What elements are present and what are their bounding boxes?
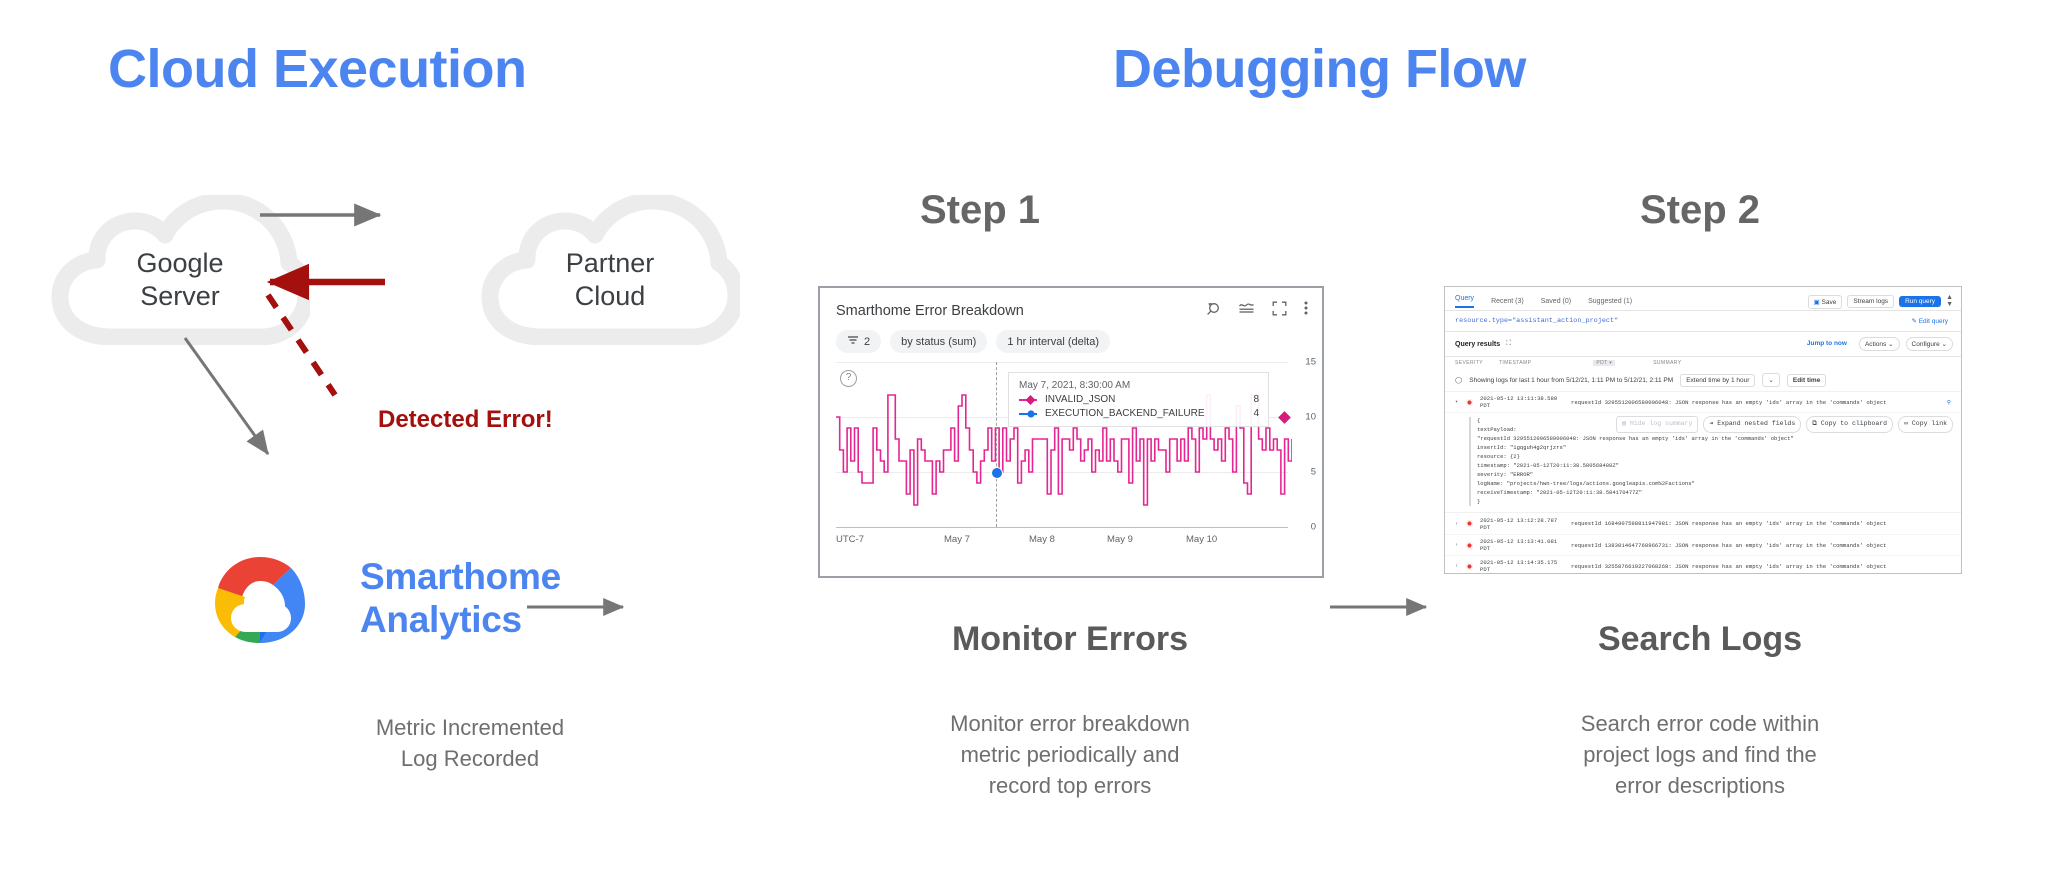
tooltip-row-invalid-json: INVALID_JSON 8 [1019,394,1259,405]
collapse-caret-icon[interactable]: ▾ [1455,399,1459,405]
log-summary: requestId 3255876619227068268: JSON resp… [1571,563,1887,570]
caption-line: Monitor error breakdown [870,708,1270,739]
log-rows-list[interactable]: ›2021-05-12 13:12:28.787 PDTrequestId 16… [1445,513,1961,574]
flow-title-monitor-errors: Monitor Errors [850,620,1290,659]
chart-plot-area[interactable]: 15 10 5 0 ? May 7, 2021, 8:30:00 AM INVA… [836,362,1288,527]
chip-filter-label: 2 [864,336,870,348]
log-timestamp: 2021-05-12 13:14:35.175 PDT [1480,559,1564,573]
caption-line: record top errors [870,770,1270,801]
column-timezone[interactable]: PDT ▾ [1593,360,1615,366]
hide-log-summary-label: Hide log summary [1630,420,1692,427]
dashed-error-connector [268,295,335,395]
google-cloud-logo-icon [205,552,315,644]
more-options-icon[interactable] [1304,300,1308,321]
chevron-down-icon: ▾ [1609,360,1612,366]
chart-header: Smarthome Error Breakdown [820,288,1322,323]
edit-query-button[interactable]: ✎ Edit query [1906,315,1953,327]
clock-icon: ◯ [1455,376,1462,384]
legend-marker-circle-icon [1019,409,1039,419]
payload-line: "requestId 3295512006589006048: JSON res… [1477,435,1951,444]
query-results-actions[interactable]: Jump to now Actions ⌄ Configure ⌄ [1801,337,1953,351]
log-row-expanded[interactable]: ▾ 2021-05-12 13:11:38.580 PDT requestId … [1445,392,1961,413]
chart-tooltip: May 7, 2021, 8:30:00 AM INVALID_JSON 8 E… [1008,372,1269,427]
pin-icon[interactable]: ⚲ [1947,399,1951,406]
payload-line: } [1477,498,1951,507]
flow-arrow-2 [1328,595,1438,624]
copy-link-label: Copy link [1912,420,1947,427]
log-row[interactable]: ›2021-05-12 13:12:28.787 PDTrequestId 16… [1445,513,1961,534]
payload-line: severity: "ERROR" [1477,471,1951,480]
save-label: Save [1822,299,1837,306]
expand-nested-fields-label: Expand nested fields [1717,420,1795,427]
log-timestamp: 2021-05-12 13:12:28.787 PDT [1480,517,1564,531]
tooltip-value-invalid-json: 8 [1237,394,1259,405]
chevron-down-icon: ⌄ [1942,341,1947,348]
step-1-title: Step 1 [880,188,1080,233]
tab-recent[interactable]: Recent (3) [1491,298,1524,305]
hide-log-summary-button[interactable]: ▤ Hide log summary [1616,416,1698,433]
ytick-0: 0 [1311,522,1316,533]
xtick-may-9: May 9 [1107,534,1133,545]
filter-icon [847,335,859,348]
expand-icon[interactable]: ⛶ [1506,340,1511,348]
tab-saved[interactable]: Saved (0) [1541,298,1571,305]
payload-line: receiveTimestamp: "2021-05-12T20:11:38.5… [1477,489,1951,498]
ytick-15: 15 [1305,357,1316,368]
payload-line: insertId: "1gqguh4g2qrjzrs" [1477,444,1951,453]
tooltip-timestamp: May 7, 2021, 8:30:00 AM [1019,380,1259,391]
xtick-may-8: May 8 [1029,534,1055,545]
caption-line: error descriptions [1500,770,1900,801]
chart-crosshair [996,362,997,527]
flow-arrow-1 [525,595,635,624]
column-severity: SEVERITY [1455,360,1483,366]
tooltip-series-execution-backend-failure: EXECUTION_BACKEND_FAILURE [1045,408,1231,419]
logs-toolbar[interactable]: ▣ Save Stream logs Run query ▲▼ [1808,295,1953,309]
page-title-debugging-flow: Debugging Flow [1113,38,1526,100]
arrow-google-to-analytics [185,338,268,454]
chart-point-execution-backend-failure [991,467,1003,479]
severity-error-icon [1466,399,1473,406]
legend-marker-diamond-icon [1019,395,1039,405]
reset-zoom-icon[interactable] [1205,300,1221,321]
step-2-title: Step 2 [1600,188,1800,233]
chart-type-icon[interactable] [1238,300,1255,321]
save-button[interactable]: ▣ Save [1808,295,1843,309]
run-query-button[interactable]: Run query [1899,296,1941,307]
page-title-cloud-execution: Cloud Execution [108,38,527,100]
column-summary: SUMMARY [1653,360,1681,366]
log-summary: requestId 1684907598811947981: JSON resp… [1571,520,1887,527]
chart-chips[interactable]: 2 by status (sum) 1 hr interval (delta) [820,323,1322,353]
google-cloud-logo [205,552,315,649]
caption-line: metric periodically and [870,739,1270,770]
caption-line: Metric Incremented [270,712,670,743]
query-text[interactable]: resource.type="assistant_action_project" [1455,317,1618,325]
ytick-10: 10 [1305,412,1316,423]
extend-time-button[interactable]: Extend time by 1 hour [1680,374,1755,387]
logs-explorer-card[interactable]: Query Recent (3) Saved (0) Suggested (1)… [1444,286,1962,574]
log-timestamp: 2021-05-12 13:13:41.081 PDT [1480,538,1564,552]
tooltip-row-execution-backend-failure: EXECUTION_BACKEND_FAILURE 4 [1019,408,1259,419]
brand-line-1: Smarthome [360,556,561,599]
chart-title: Smarthome Error Breakdown [836,303,1024,319]
query-editor-row[interactable]: resource.type="assistant_action_project"… [1445,311,1961,332]
save-icon: ▣ [1814,299,1820,306]
jump-to-now-button[interactable]: Jump to now [1801,337,1853,351]
configure-button[interactable]: Configure ⌄ [1906,337,1953,351]
log-summary: requestId 1383014647768966731: JSON resp… [1571,542,1887,549]
copy-link-button[interactable]: ∞ Copy link [1898,416,1953,433]
flow-caption-monitor-errors: Monitor error breakdown metric periodica… [870,708,1270,802]
logs-column-headers: SEVERITY TIMESTAMP PDT ▾ SUMMARY [1445,357,1961,369]
chip-interval[interactable]: 1 hr interval (delta) [996,330,1110,353]
severity-error-icon [1466,520,1473,527]
chevron-down-icon: ⌄ [1888,341,1893,348]
severity-error-icon [1466,542,1473,549]
actions-button[interactable]: Actions ⌄ [1859,337,1900,351]
tab-suggested[interactable]: Suggested (1) [1588,298,1632,305]
caption-line: Search error code within [1500,708,1900,739]
flow-caption-search-logs: Search error code within project logs an… [1500,708,1900,802]
x-axis-line [836,527,1288,528]
logs-tabs[interactable]: Query Recent (3) Saved (0) Suggested (1)… [1445,287,1961,311]
chart-card[interactable]: Smarthome Error Breakdown 2 by status (s… [818,286,1324,578]
edit-time-button[interactable]: Edit time [1787,374,1826,387]
pencil-icon: ✎ [1911,318,1916,325]
query-results-bar: Query results ⛶ Jump to now Actions ⌄ Co… [1445,332,1961,357]
log-row[interactable]: ›2021-05-12 13:13:41.081 PDTrequestId 13… [1445,535,1961,556]
extend-time-dropdown[interactable]: ⌄ [1762,373,1779,387]
fullscreen-icon[interactable] [1272,301,1287,321]
copy-to-clipboard-label: Copy to clipboard [1821,420,1887,427]
log-payload-actions[interactable]: ▤ Hide log summary ⇥ Expand nested field… [1616,416,1953,433]
stream-logs-button[interactable]: Stream logs [1847,295,1894,308]
caption-line: project logs and find the [1500,739,1900,770]
edit-query-label: Edit query [1919,318,1948,325]
expand-caret-icon[interactable]: › [1455,542,1459,548]
ytick-5: 5 [1311,467,1316,478]
expand-caret-icon[interactable]: › [1455,521,1459,527]
tab-query[interactable]: Query [1455,295,1474,308]
log-summary: requestId 3295512006589006048: JSON resp… [1571,399,1887,406]
xtick-utc: UTC-7 [836,534,864,545]
payload-line: timestamp: "2021-05-12T20:11:38.58056848… [1477,462,1951,471]
expand-caret-icon[interactable]: › [1455,563,1459,569]
time-range-text: Showing logs for last 1 hour from 5/12/2… [1469,377,1673,384]
log-payload-detail: ▤ Hide log summary ⇥ Expand nested field… [1445,413,1961,513]
actions-label: Actions [1865,341,1886,348]
log-timestamp: 2021-05-12 13:11:38.580 PDT [1480,395,1564,409]
xtick-may-7: May 7 [944,534,970,545]
time-range-notice: ◯ Showing logs for last 1 hour from 5/12… [1445,369,1961,392]
flow-title-search-logs: Search Logs [1480,620,1920,659]
chart-toolbar[interactable] [1205,300,1308,321]
xtick-may-10: May 10 [1186,534,1217,545]
payload-line[interactable]: resource: {2} [1477,453,1951,462]
cloud-arrows-group [150,190,770,610]
column-timestamp: TIMESTAMP [1499,360,1531,366]
copy-to-clipboard-button[interactable]: ⧉ Copy to clipboard [1806,416,1893,433]
tooltip-series-invalid-json: INVALID_JSON [1045,394,1231,405]
chip-filter[interactable]: 2 [836,330,881,353]
caption-line: Log Recorded [270,743,670,774]
query-results-label: Query results [1455,341,1500,348]
log-row[interactable]: ›2021-05-12 13:14:35.175 PDTrequestId 32… [1445,556,1961,574]
expand-collapse-icon[interactable]: ▲▼ [1946,295,1953,308]
detected-error-label: Detected Error! [378,406,553,434]
chip-group-by[interactable]: by status (sum) [890,330,987,353]
expand-nested-fields-button[interactable]: ⇥ Expand nested fields [1703,416,1801,433]
payload-line: logName: "projects/hwn-tree/logs/actions… [1477,480,1951,489]
tooltip-value-execution-backend-failure: 4 [1237,408,1259,419]
timezone-label: PDT [1596,360,1607,366]
configure-label: Configure [1912,341,1940,348]
severity-error-icon [1466,563,1473,570]
flow-caption-analytics: Metric Incremented Log Recorded [270,712,670,774]
